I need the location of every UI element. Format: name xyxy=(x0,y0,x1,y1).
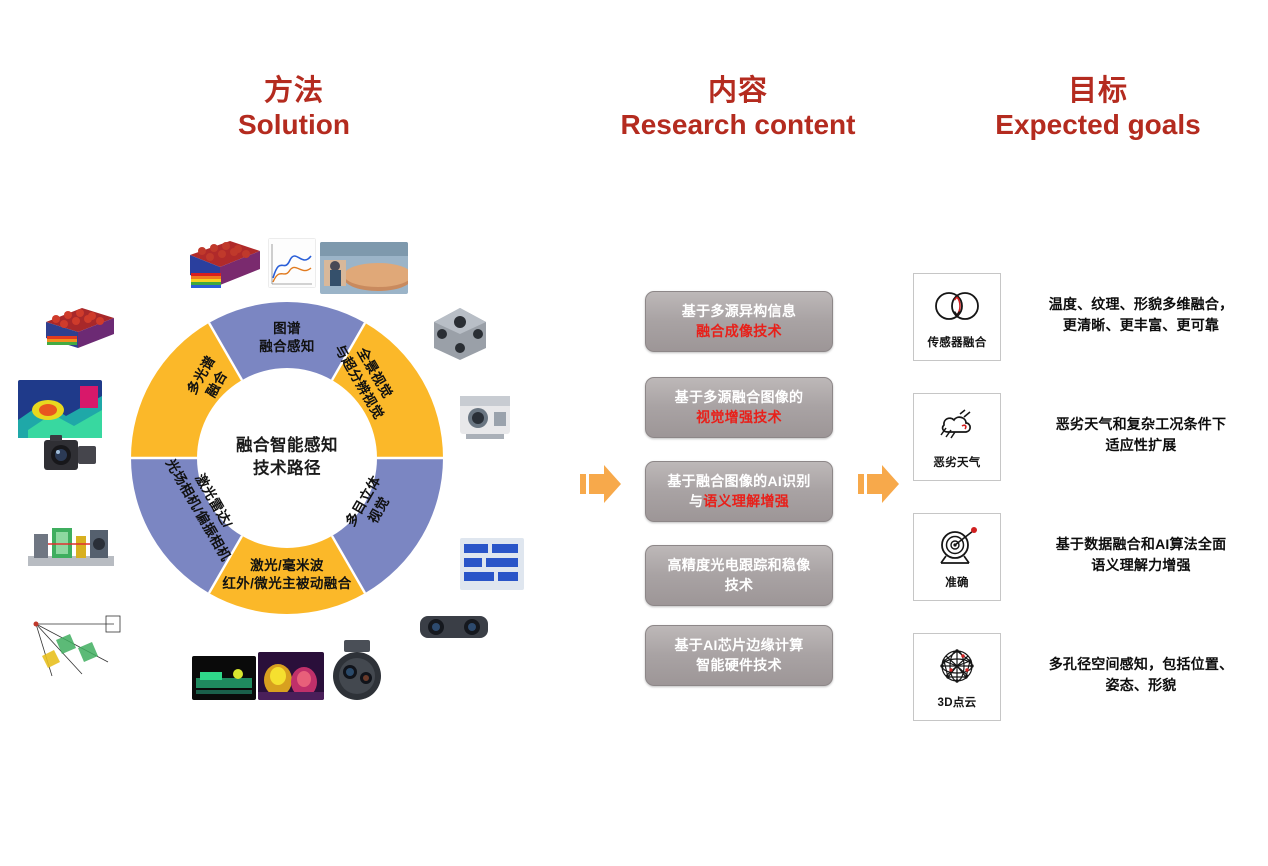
content-box-4-line1: 基于AI芯片边缘计算 xyxy=(675,636,804,656)
thumbnail-night-vision xyxy=(192,656,256,700)
thumbnail-infrared-scene xyxy=(258,652,324,700)
thumbnail-microstructure xyxy=(460,538,524,590)
thumbnail-lab-instrument xyxy=(456,386,514,442)
content-box-0-line2: 融合成像技术 xyxy=(682,322,796,342)
content-box-2-line1: 基于融合图像的AI识别 xyxy=(667,472,810,492)
goal-desc-2-line2: 语义理解力增强 xyxy=(1018,555,1264,576)
thumbnail-optical-schematic xyxy=(22,604,132,682)
goal-card-0-label: 传感器融合 xyxy=(928,334,987,350)
goal-desc-1-line1: 恶劣天气和复杂工况条件下 xyxy=(1018,414,1264,435)
content-box-visual-enhancement[interactable]: 基于多源融合图像的 视觉增强技术 xyxy=(645,377,833,438)
content-box-3-line2: 技术 xyxy=(668,576,811,596)
column-header-goals-cn: 目标 xyxy=(958,74,1238,108)
goal-card-3d-point-cloud[interactable]: 3D点云 xyxy=(913,633,1001,721)
content-box-3-line1: 高精度光电跟踪和稳像 xyxy=(668,556,811,576)
thumbnail-polarization-camera xyxy=(40,428,100,476)
thumbnail-pipeline-inspection xyxy=(320,242,408,294)
content-box-4-line2: 智能硬件技术 xyxy=(675,656,804,676)
column-header-solution-en: Solution xyxy=(178,108,410,141)
column-header-goals-en: Expected goals xyxy=(958,108,1238,141)
wheel-center-label: 融合智能感知 技术路径 xyxy=(200,435,375,482)
thumbnail-multispectral-stack xyxy=(42,302,118,358)
goal-desc-3-line2: 姿态、形貌 xyxy=(1018,675,1264,696)
column-header-research-content: 内容 Research content xyxy=(600,74,876,141)
arrow-content-to-goals xyxy=(858,462,900,506)
goal-desc-0-line2: 更清晰、更丰富、更可靠 xyxy=(1018,315,1264,336)
column-header-solution: 方法 Solution xyxy=(178,74,410,141)
goal-description-harsh-weather: 恶劣天气和复杂工况条件下 适应性扩展 xyxy=(1018,414,1264,455)
content-box-2-prefix: 与 xyxy=(689,493,703,509)
goal-card-1-label: 恶劣天气 xyxy=(933,454,980,470)
wheel-center-line1: 融合智能感知 xyxy=(200,435,375,458)
content-box-ai-chip-edge-computing[interactable]: 基于AI芯片边缘计算 智能硬件技术 xyxy=(645,625,833,686)
thumbnail-optical-bench xyxy=(28,520,114,572)
goal-desc-2-line1: 基于数据融合和AI算法全面 xyxy=(1018,534,1264,555)
content-box-ai-recognition-semantics[interactable]: 基于融合图像的AI识别 与语义理解增强 xyxy=(645,461,833,522)
content-box-2-line2: 与语义理解增强 xyxy=(667,492,810,512)
wheel-label-3-line2: 红外/微光主被动融合 xyxy=(207,575,367,593)
goal-description-3d-point-cloud: 多孔径空间感知，包括位置、 姿态、形貌 xyxy=(1018,654,1264,695)
column-header-solution-cn: 方法 xyxy=(178,74,410,108)
goal-card-2-label: 准确 xyxy=(945,574,969,590)
goal-card-harsh-weather[interactable]: 恶劣天气 xyxy=(913,393,1001,481)
goal-description-sensor-fusion: 温度、纹理、形貌多维融合， 更清晰、更丰富、更可靠 xyxy=(1018,294,1264,335)
target-dart-icon xyxy=(935,525,979,567)
point-cloud-icon xyxy=(936,645,978,687)
content-box-1-line2: 视觉增强技术 xyxy=(675,408,804,428)
content-box-1-line1: 基于多源融合图像的 xyxy=(675,388,804,408)
rain-cloud-icon xyxy=(934,405,980,447)
thumbnail-spectral-plot xyxy=(268,238,316,288)
goal-description-accurate: 基于数据融合和AI算法全面 语义理解力增强 xyxy=(1018,534,1264,575)
venn-circles-icon xyxy=(932,285,982,327)
content-box-tracking-stabilization[interactable]: 高精度光电跟踪和稳像 技术 xyxy=(645,545,833,606)
column-header-content-cn: 内容 xyxy=(600,74,876,108)
goal-desc-3-line1: 多孔径空间感知，包括位置、 xyxy=(1018,654,1264,675)
thumbnail-eo-turret xyxy=(322,638,392,704)
technology-roadmap-wheel: 融合智能感知 技术路径 图谱 融合感知 全景视觉 与超分辨视觉 多目立体 视觉 … xyxy=(131,302,443,614)
column-header-content-en: Research content xyxy=(600,108,876,141)
wheel-center-line2: 技术路径 xyxy=(200,458,375,481)
goal-desc-1-line2: 适应性扩展 xyxy=(1018,435,1264,456)
arrow-solution-to-content xyxy=(580,462,622,506)
goal-card-accurate[interactable]: 准确 xyxy=(913,513,1001,601)
content-box-0-line1: 基于多源异构信息 xyxy=(682,302,796,322)
goal-card-sensor-fusion[interactable]: 传感器融合 xyxy=(913,273,1001,361)
goal-desc-0-line1: 温度、纹理、形貌多维融合， xyxy=(1018,294,1264,315)
thumbnail-hyperspectral-cube xyxy=(186,237,264,295)
goal-card-3-label: 3D点云 xyxy=(938,694,977,710)
content-box-fusion-imaging[interactable]: 基于多源异构信息 融合成像技术 xyxy=(645,291,833,352)
column-header-expected-goals: 目标 Expected goals xyxy=(958,74,1238,141)
